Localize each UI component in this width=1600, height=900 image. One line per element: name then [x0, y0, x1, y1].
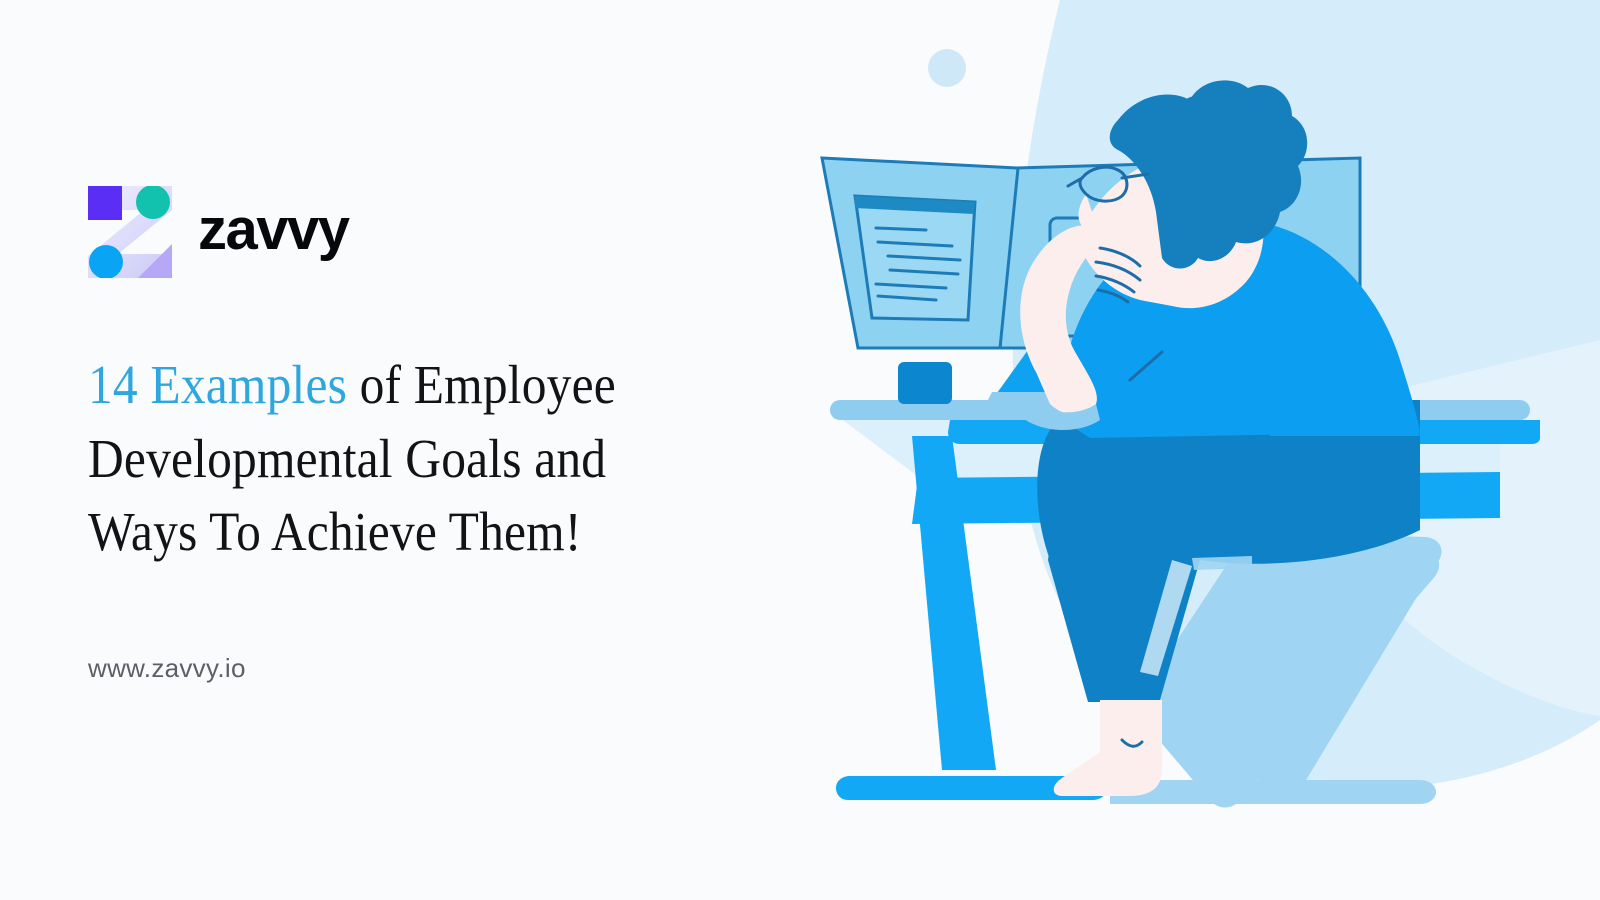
poster-canvas: zavvy 14 Examples of Employee Developmen…	[0, 0, 1600, 900]
desk-device-block	[898, 362, 952, 404]
brand-wordmark: zavvy	[198, 201, 349, 263]
headline-accent: 14 Examples	[88, 354, 347, 415]
person-foot	[1054, 700, 1162, 796]
page-title: 14 Examples of Employee Developmental Go…	[88, 348, 664, 569]
zavvy-logo-mark-icon	[88, 186, 172, 278]
site-url[interactable]: www.zavvy.io	[88, 653, 246, 684]
brand-logo[interactable]: zavvy	[88, 186, 349, 278]
content-column: zavvy 14 Examples of Employee Developmen…	[88, 0, 748, 900]
hero-illustration	[800, 0, 1600, 900]
decorative-dot-icon	[928, 49, 966, 87]
